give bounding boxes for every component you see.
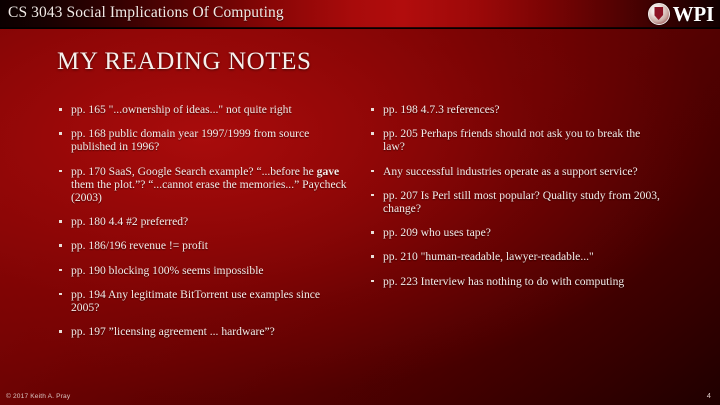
bullet-dot-icon xyxy=(59,293,62,296)
list-item: pp. 190 blocking 100% seems impossible xyxy=(58,264,348,277)
list-item-text: pp. 209 who uses tape? xyxy=(383,226,491,239)
list-item: pp. 186/196 revenue != profit xyxy=(58,239,348,252)
list-item-text: pp. 207 Is Perl still most popular? Qual… xyxy=(383,189,660,215)
left-bullet-column: pp. 165 "...ownership of ideas..." not q… xyxy=(58,103,348,338)
bullet-dot-icon xyxy=(371,231,374,234)
bullet-dot-icon xyxy=(371,170,374,173)
list-item: pp. 210 "human-readable, lawyer-readable… xyxy=(370,250,660,263)
slide-header-bar: CS 3043 Social Implications Of Computing… xyxy=(0,0,720,29)
wpi-seal-icon xyxy=(648,3,670,25)
list-item: pp. 168 public domain year 1997/1999 fro… xyxy=(58,127,348,153)
slide-body: pp. 165 "...ownership of ideas..." not q… xyxy=(58,103,678,338)
list-item: pp. 170 SaaS, Google Search example? “..… xyxy=(58,165,348,205)
list-item-text: pp. 210 "human-readable, lawyer-readable… xyxy=(383,250,594,263)
list-item-text: pp. 170 SaaS, Google Search example? “..… xyxy=(71,165,347,204)
bullet-dot-icon xyxy=(371,194,374,197)
wpi-logo: WPI xyxy=(648,1,714,27)
list-item: pp. 209 who uses tape? xyxy=(370,226,660,239)
bullet-dot-icon xyxy=(371,255,374,258)
list-item: pp. 165 "...ownership of ideas..." not q… xyxy=(58,103,348,116)
list-item-text: pp. 180 4.4 #2 preferred? xyxy=(71,215,188,228)
bullet-dot-icon xyxy=(59,132,62,135)
list-item: pp. 197 ”licensing agreement ... hardwar… xyxy=(58,325,348,338)
bullet-dot-icon xyxy=(59,244,62,247)
list-item: pp. 194 Any legitimate BitTorrent use ex… xyxy=(58,288,348,314)
wpi-wordmark: WPI xyxy=(673,4,714,25)
bullet-dot-icon xyxy=(59,330,62,333)
list-item-text: pp. 205 Perhaps friends should not ask y… xyxy=(383,127,640,153)
list-item-text: pp. 186/196 revenue != profit xyxy=(71,239,208,252)
bullet-dot-icon xyxy=(371,280,374,283)
list-item: Any successful industries operate as a s… xyxy=(370,165,660,178)
list-item: pp. 205 Perhaps friends should not ask y… xyxy=(370,127,660,153)
bullet-dot-icon xyxy=(59,269,62,272)
copyright-notice: © 2017 Keith A. Pray xyxy=(6,393,70,400)
course-title: CS 3043 Social Implications Of Computing xyxy=(8,4,284,22)
list-item-text: pp. 223 Interview has nothing to do with… xyxy=(383,275,624,288)
list-item-text: pp. 198 4.7.3 references? xyxy=(383,103,500,116)
list-item-text: pp. 165 "...ownership of ideas..." not q… xyxy=(71,103,292,116)
list-item-text: pp. 168 public domain year 1997/1999 fro… xyxy=(71,127,309,153)
bullet-dot-icon xyxy=(59,220,62,223)
list-item-text: pp. 190 blocking 100% seems impossible xyxy=(71,264,264,277)
list-item: pp. 198 4.7.3 references? xyxy=(370,103,660,116)
page-title: MY READING NOTES xyxy=(57,48,312,76)
list-item: pp. 180 4.4 #2 preferred? xyxy=(58,215,348,228)
bullet-dot-icon xyxy=(371,108,374,111)
list-item-text: pp. 197 ”licensing agreement ... hardwar… xyxy=(71,325,275,338)
bullet-dot-icon xyxy=(371,132,374,135)
list-item: pp. 223 Interview has nothing to do with… xyxy=(370,275,660,288)
slide-page-number: 4 xyxy=(707,391,711,400)
list-item-text: Any successful industries operate as a s… xyxy=(383,165,638,178)
bullet-dot-icon xyxy=(59,108,62,111)
list-item-text: pp. 194 Any legitimate BitTorrent use ex… xyxy=(71,288,320,314)
list-item: pp. 207 Is Perl still most popular? Qual… xyxy=(370,189,660,215)
bullet-dot-icon xyxy=(59,170,62,173)
right-bullet-column: pp. 198 4.7.3 references? pp. 205 Perhap… xyxy=(370,103,660,338)
presentation-slide: CS 3043 Social Implications Of Computing… xyxy=(0,0,720,405)
